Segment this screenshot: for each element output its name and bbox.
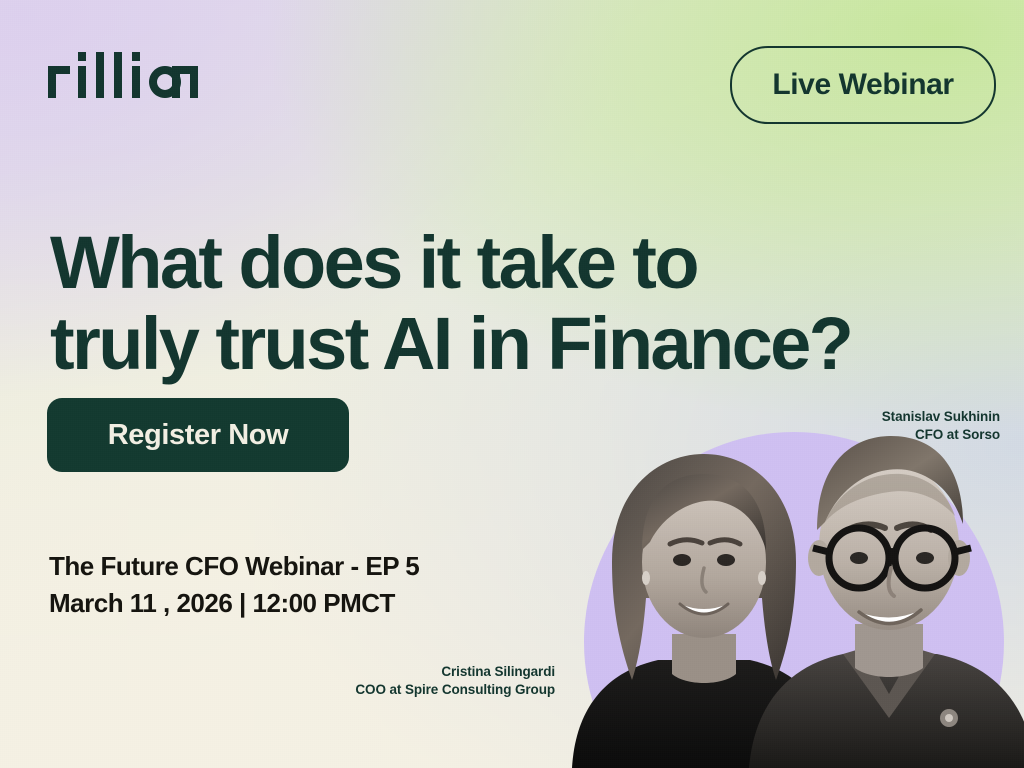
speaker-role: CFO at Sorso — [882, 426, 1000, 444]
speaker-photo-composition — [524, 400, 1024, 768]
speaker-role: COO at Spire Consulting Group — [330, 681, 555, 699]
rillion-wordmark-icon — [48, 52, 198, 98]
page-title: What does it take to truly trust AI in F… — [50, 226, 950, 381]
headline-line-2: truly trust AI in Finance? — [50, 307, 950, 380]
rillion-logo — [48, 52, 198, 98]
webinar-promo-banner: Live Webinar What does it take to truly … — [0, 0, 1024, 768]
headline-line-1: What does it take to — [50, 226, 950, 299]
speaker-name: Stanislav Sukhinin — [882, 408, 1000, 426]
speaker-name: Cristina Silingardi — [330, 663, 555, 681]
register-now-button[interactable]: Register Now — [47, 398, 349, 472]
speaker-caption-cristina: Cristina Silingardi COO at Spire Consult… — [330, 663, 555, 699]
speaker-caption-stanislav: Stanislav Sukhinin CFO at Sorso — [882, 408, 1000, 444]
event-datetime: March 11 , 2026 | 12:00 PMCT — [49, 585, 419, 622]
event-details: The Future CFO Webinar - EP 5 March 11 ,… — [49, 548, 419, 622]
live-webinar-badge: Live Webinar — [730, 46, 996, 124]
event-series-title: The Future CFO Webinar - EP 5 — [49, 548, 419, 585]
speaker-photo-stanislav — [739, 418, 1024, 768]
